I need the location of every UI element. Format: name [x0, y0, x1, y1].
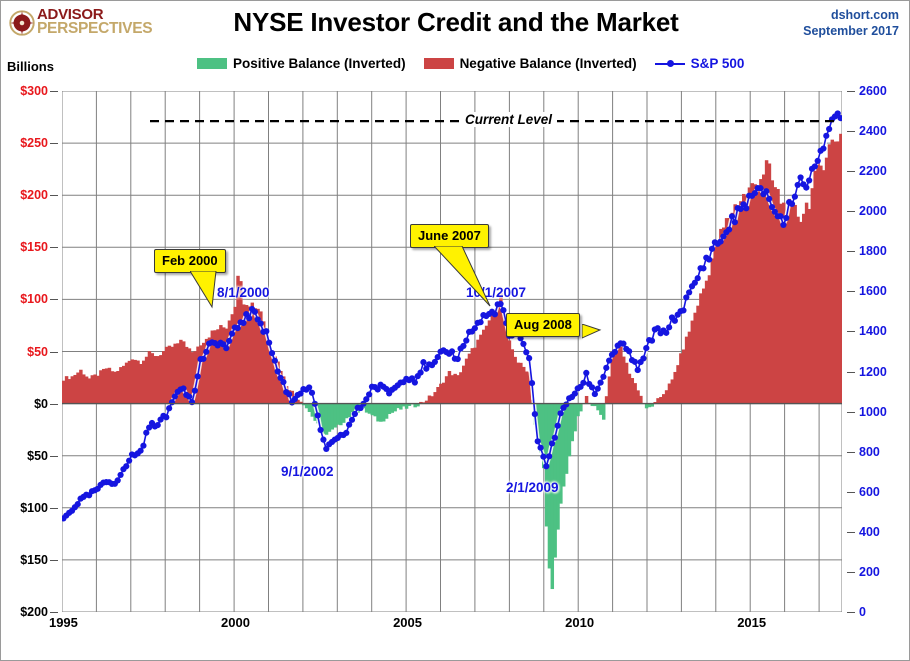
y-axis-left-tickmark — [50, 612, 58, 613]
y-axis-right-tickmark — [847, 131, 855, 132]
callout-feb-2000: Feb 2000 — [154, 249, 226, 273]
y-axis-left-tick-3: $150 — [20, 240, 48, 254]
legend-label-sp500: S&P 500 — [691, 56, 745, 71]
y-axis-right-tickmark — [847, 331, 855, 332]
legend-item-sp500: S&P 500 — [655, 56, 745, 71]
legend-item-positive-balance: Positive Balance (Inverted) — [197, 56, 406, 71]
y-axis-right-tickmark — [847, 492, 855, 493]
y-axis-left-tickmark — [50, 143, 58, 144]
x-axis: 19952000200520102015 — [62, 615, 842, 639]
y-axis-right-tick-11: 2200 — [859, 164, 887, 178]
x-axis-tick-2000: 2000 — [221, 615, 250, 630]
y-axis-right-tickmark — [847, 572, 855, 573]
date-label-9-1-2002: 9/1/2002 — [281, 464, 334, 479]
current-level-label: Current Level — [460, 112, 557, 127]
chart-canvas — [62, 91, 842, 612]
y-axis-left-tick-4: $100 — [20, 292, 48, 306]
y-axis-left-tick-7: $50 — [27, 449, 48, 463]
y-axis-left-tickmark — [50, 456, 58, 457]
y-axis-right-tick-3: 600 — [859, 485, 880, 499]
y-axis-left-tick-8: $100 — [20, 501, 48, 515]
source-date: September 2017 — [803, 23, 899, 39]
y-axis-right-tickmark — [847, 251, 855, 252]
callout-aug-2008: Aug 2008 — [506, 313, 580, 337]
date-label-8-1-2000: 8/1/2000 — [217, 285, 270, 300]
date-label-10-1-2007: 10/1/2007 — [466, 285, 526, 300]
x-axis-tick-2015: 2015 — [737, 615, 766, 630]
y-axis-left-tick-5: $50 — [27, 345, 48, 359]
source-site: dshort.com — [803, 7, 899, 23]
y-axis-right-tickmark — [847, 171, 855, 172]
y-axis-right: 0200400600800100012001400160018002000220… — [847, 91, 907, 612]
legend-swatch-green — [197, 58, 227, 69]
y-axis-right-tick-9: 1800 — [859, 244, 887, 258]
y-axis-right-tickmark — [847, 211, 855, 212]
y-axis-right-tick-2: 400 — [859, 525, 880, 539]
y-axis-right-tickmark — [847, 612, 855, 613]
y-axis-right-tick-1: 200 — [859, 565, 880, 579]
y-axis-left-tick-1: $250 — [20, 136, 48, 150]
y-axis-right-tick-12: 2400 — [859, 124, 887, 138]
y-axis-right-tick-8: 1600 — [859, 284, 887, 298]
chart-page: ADVISOR PERSPECTIVES NYSE Investor Credi… — [0, 0, 910, 661]
y-axis-right-tick-13: 2600 — [859, 84, 887, 98]
y-axis-left-tick-10: $200 — [20, 605, 48, 619]
legend-label-positive-balance: Positive Balance (Inverted) — [233, 56, 406, 71]
y-axis-right-tickmark — [847, 372, 855, 373]
y-axis-right-tick-7: 1400 — [859, 324, 887, 338]
callout-june-2007: June 2007 — [410, 224, 489, 248]
y-axis-left-tickmark — [50, 91, 58, 92]
y-axis-left: $300$250$200$150$100$50$0$50$100$150$200 — [1, 91, 58, 612]
legend-label-negative-balance: Negative Balance (Inverted) — [460, 56, 637, 71]
y-axis-left-tickmark — [50, 195, 58, 196]
y-axis-left-tickmark — [50, 404, 58, 405]
date-label-2-1-2009: 2/1/2009 — [506, 480, 559, 495]
y-axis-right-tick-6: 1200 — [859, 365, 887, 379]
x-axis-tick-2010: 2010 — [565, 615, 594, 630]
plot-area: Current Level Feb 2000 June 2007 Aug 200… — [62, 91, 842, 612]
y-axis-right-tickmark — [847, 91, 855, 92]
y-axis-left-tickmark — [50, 508, 58, 509]
y-axis-unit-label: Billions — [7, 59, 54, 74]
y-axis-left-tick-9: $150 — [20, 553, 48, 567]
y-axis-right-tick-4: 800 — [859, 445, 880, 459]
y-axis-right-tickmark — [847, 452, 855, 453]
legend-item-negative-balance: Negative Balance (Inverted) — [424, 56, 637, 71]
y-axis-right-tick-0: 0 — [859, 605, 866, 619]
y-axis-left-tick-6: $0 — [34, 397, 48, 411]
legend-line-marker-icon — [655, 58, 685, 69]
page-title: NYSE Investor Credit and the Market — [1, 7, 910, 38]
y-axis-right-tickmark — [847, 291, 855, 292]
y-axis-left-tickmark — [50, 560, 58, 561]
y-axis-right-tickmark — [847, 532, 855, 533]
legend-swatch-red — [424, 58, 454, 69]
chart-legend: Positive Balance (Inverted) Negative Bal… — [197, 56, 744, 71]
x-axis-tick-1995: 1995 — [49, 615, 78, 630]
x-axis-tick-2005: 2005 — [393, 615, 422, 630]
source-attribution: dshort.com September 2017 — [803, 7, 899, 40]
y-axis-right-tick-5: 1000 — [859, 405, 887, 419]
y-axis-left-tick-0: $300 — [20, 84, 48, 98]
y-axis-left-tick-2: $200 — [20, 188, 48, 202]
y-axis-right-tick-10: 2000 — [859, 204, 887, 218]
y-axis-left-tickmark — [50, 247, 58, 248]
y-axis-right-tickmark — [847, 412, 855, 413]
y-axis-left-tickmark — [50, 299, 58, 300]
y-axis-left-tickmark — [50, 352, 58, 353]
